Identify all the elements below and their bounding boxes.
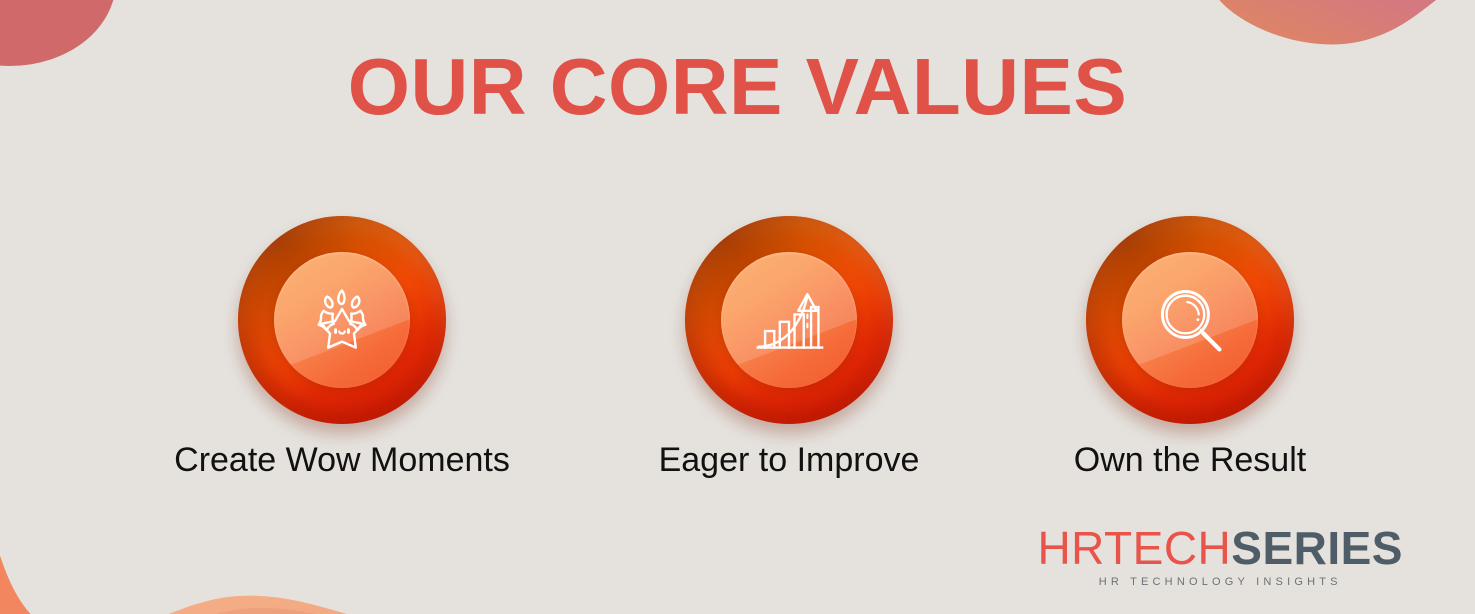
value-badge-2 <box>685 216 893 424</box>
brand-logo: HRTECHSERIES HR TECHNOLOGY INSIGHTS <box>1037 525 1403 588</box>
magnifying-glass-icon <box>1144 274 1236 366</box>
logo-name-primary: HRTECH <box>1037 522 1231 574</box>
value-badge-1 <box>238 216 446 424</box>
value-label-1: Create Wow Moments <box>132 442 552 479</box>
value-card-eager-to-improve: Eager to Improve <box>609 216 969 479</box>
logo-tagline: HR TECHNOLOGY INSIGHTS <box>1037 576 1403 588</box>
stars-sparkle-icon <box>296 274 388 366</box>
core-values-group: Create Wow Moments <box>0 216 1475 516</box>
logo-wordmark: HRTECHSERIES <box>1037 525 1403 571</box>
value-card-create-wow-moments: Create Wow Moments <box>132 216 552 479</box>
logo-name-secondary: SERIES <box>1231 522 1403 574</box>
value-badge-3 <box>1086 216 1294 424</box>
value-label-3: Own the Result <box>1020 442 1360 479</box>
value-card-own-the-result: Own the Result <box>1020 216 1360 479</box>
slide-canvas: OUR CORE VALUES <box>0 0 1475 614</box>
value-label-2: Eager to Improve <box>609 442 969 479</box>
growth-chart-arrow-icon <box>743 274 835 366</box>
page-title: OUR CORE VALUES <box>0 47 1475 127</box>
